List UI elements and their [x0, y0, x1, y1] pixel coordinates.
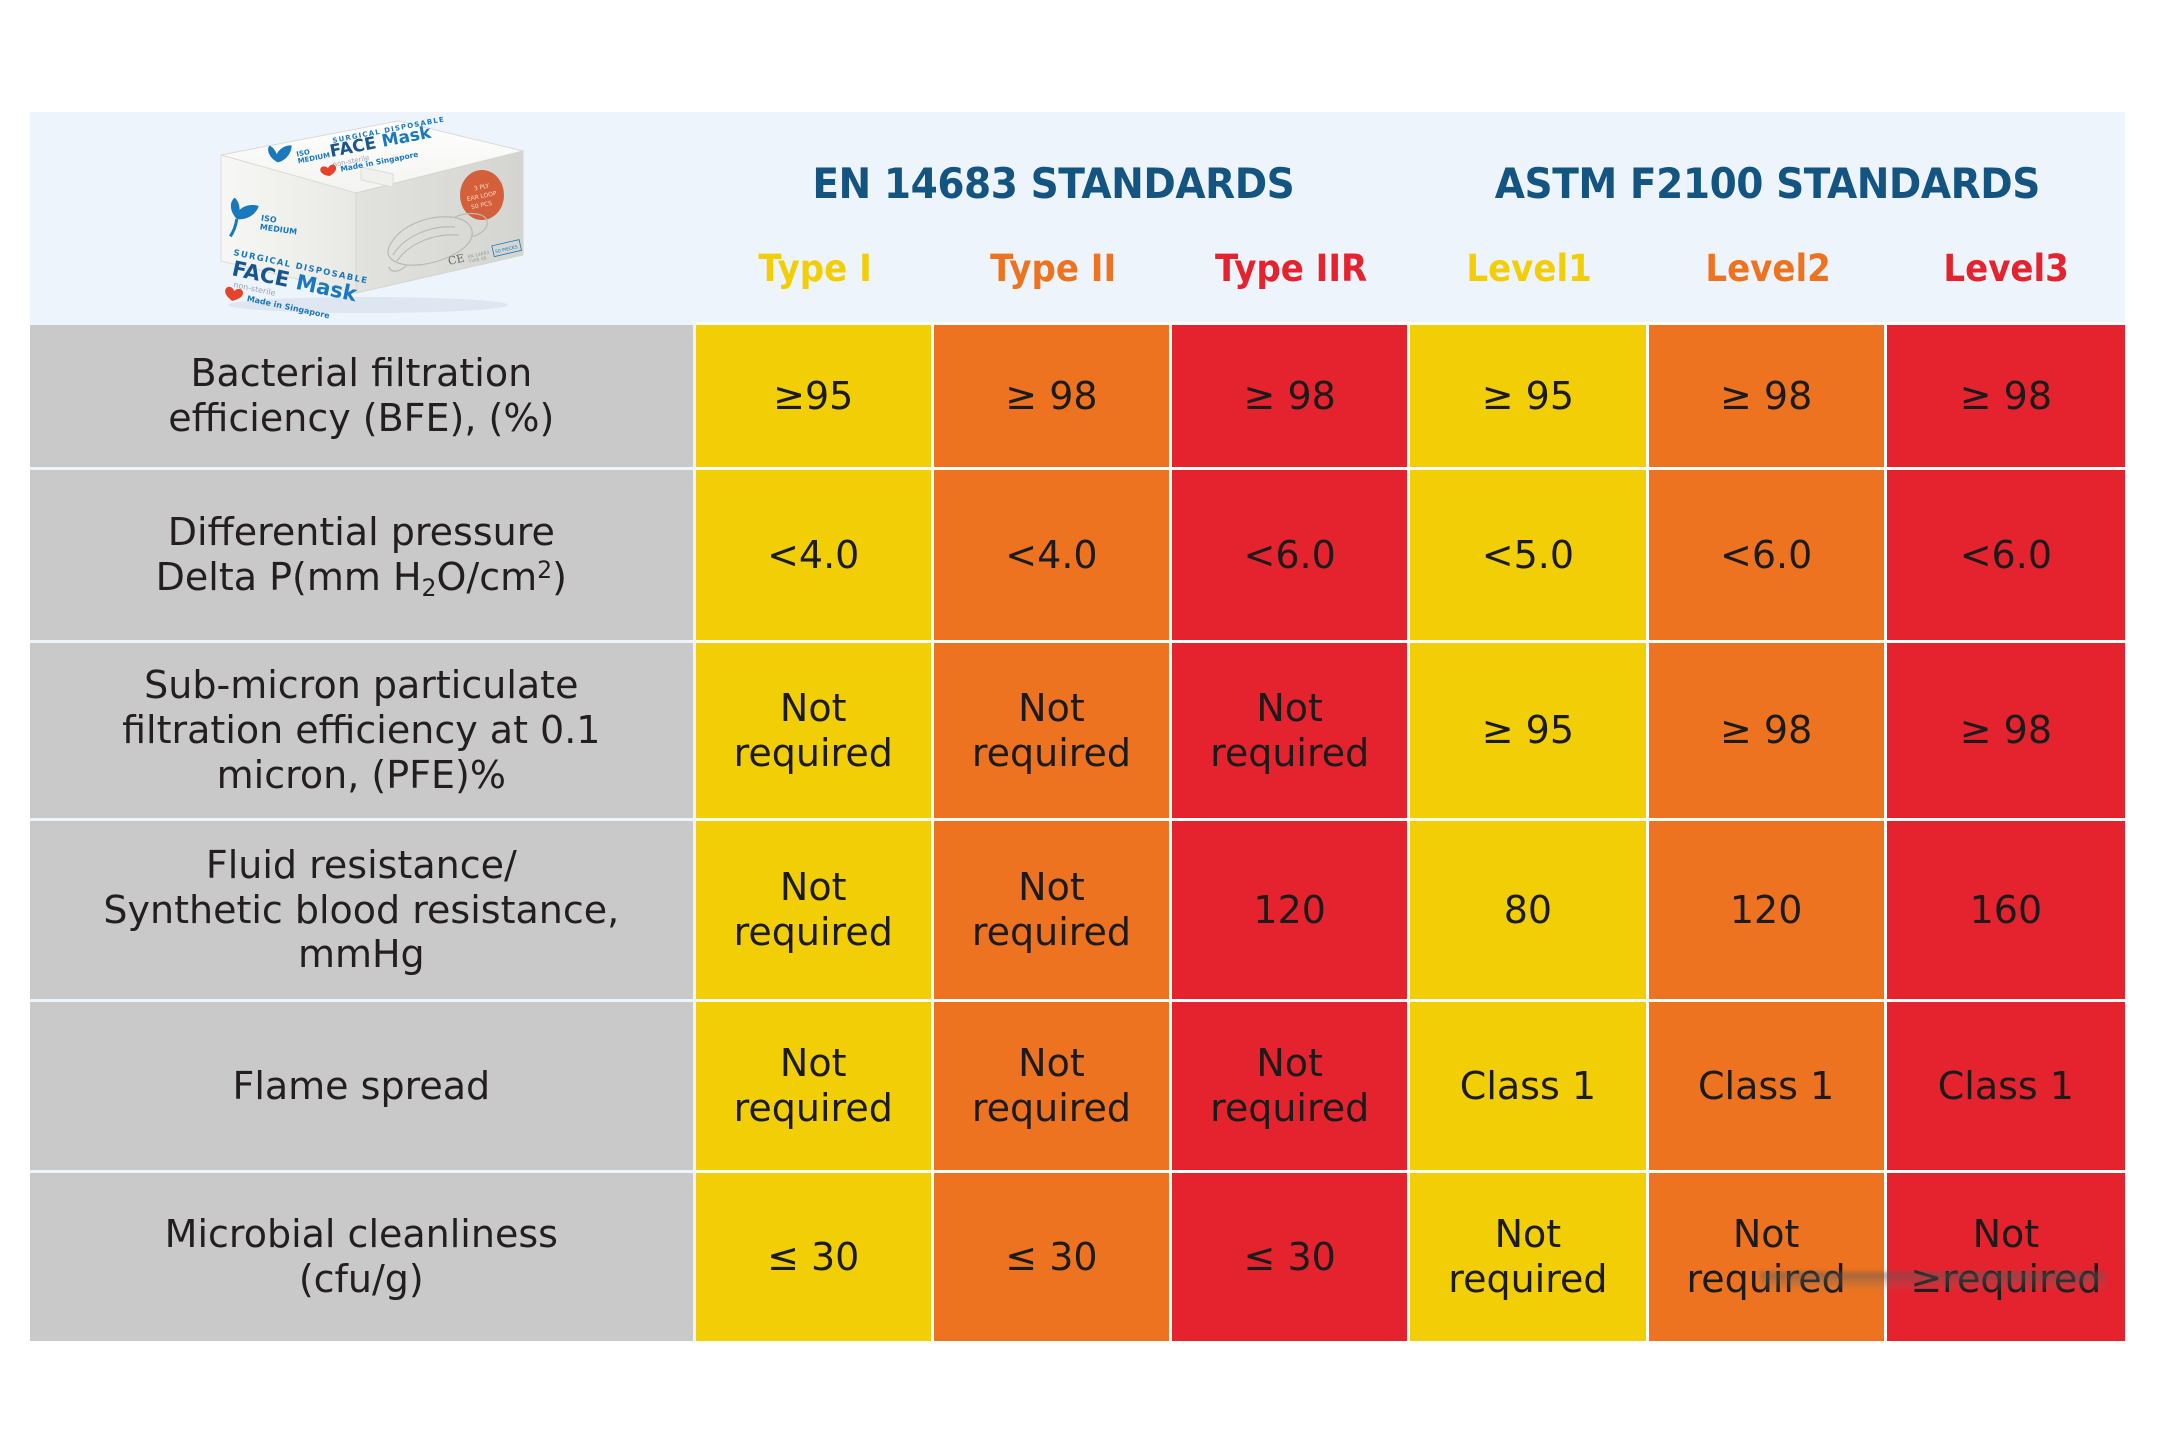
table-row: Fluid resistance/ Synthetic blood resist… [30, 818, 2125, 999]
cell-flame-type-ii-line2: required [972, 1086, 1131, 1130]
cell-fluid-level3: 160 [1887, 818, 2125, 999]
cell-pfe-type-ii-line2: required [972, 731, 1131, 775]
cell-microbial-type-i: ≤ 30 [696, 1170, 934, 1341]
group-header-astm: ASTM F2100 STANDARDS [1410, 112, 2125, 214]
row-label-fluid-resistance: Fluid resistance/ Synthetic blood resist… [30, 818, 696, 999]
cell-microbial-level3-line1: Not [1973, 1212, 2040, 1256]
cell-bfe-level1: ≥ 95 [1410, 322, 1648, 467]
cell-microbial-level2-line1: Not [1733, 1212, 1800, 1256]
row-label-fluid-line1: Fluid resistance/ [206, 843, 517, 887]
cell-pfe-type-i-line2: required [734, 731, 893, 775]
mask-box-illustration: ISO MEDIUM SURGICAL DISPOSABLE FACE Mask… [193, 115, 533, 320]
column-header-level1: Level1 [1410, 214, 1648, 322]
row-label-fluid-line2: Synthetic blood resistance, [103, 888, 619, 932]
row-label-delta-p-line2: Delta P(mm H2O/cm2) [156, 555, 567, 599]
table-row: Sub-micron particulate filtration effici… [30, 640, 2125, 818]
cell-bfe-type-i: ≥95 [696, 322, 934, 467]
cell-bfe-level2: ≥ 98 [1649, 322, 1887, 467]
cell-pfe-level1: ≥ 95 [1410, 640, 1648, 818]
cell-pfe-level2: ≥ 98 [1649, 640, 1887, 818]
row-label-pfe: Sub-micron particulate filtration effici… [30, 640, 696, 818]
column-header-level3: Level3 [1887, 214, 2125, 322]
row-label-fluid-line3: mmHg [298, 932, 425, 976]
row-label-microbial-line2: (cfu/g) [299, 1257, 424, 1301]
column-header-type-i-label: Type I [705, 247, 924, 290]
cell-deltap-type-i: <4.0 [696, 467, 934, 640]
cell-microbial-level1-line2: required [1448, 1257, 1607, 1301]
cell-fluid-type-i-line1: Not [780, 865, 847, 909]
cell-pfe-type-iir-line1: Not [1256, 686, 1323, 730]
cell-flame-level1: Class 1 [1410, 999, 1648, 1170]
cell-pfe-type-ii-line1: Not [1018, 686, 1085, 730]
table-row: Microbial cleanliness (cfu/g) ≤ 30 ≤ 30 … [30, 1170, 2125, 1341]
column-header-type-iir: Type IIR [1172, 214, 1410, 322]
cell-flame-level3: Class 1 [1887, 999, 2125, 1170]
cell-pfe-type-iir: Not required [1172, 640, 1410, 818]
cell-microbial-type-iir: ≤ 30 [1172, 1170, 1410, 1341]
column-header-level1-label: Level1 [1420, 247, 1639, 290]
group-header-en-label: EN 14683 STANDARDS [721, 159, 1386, 208]
group-header-row: ISO MEDIUM SURGICAL DISPOSABLE FACE Mask… [30, 112, 2125, 214]
cell-microbial-level1: Not required [1410, 1170, 1648, 1341]
cell-fluid-type-i: Not required [696, 818, 934, 999]
row-label-bfe-line2: efficiency (BFE), (%) [168, 396, 554, 440]
cell-flame-type-ii-line1: Not [1018, 1041, 1085, 1085]
row-label-pfe-line3: micron, (PFE)% [217, 753, 506, 797]
cell-fluid-type-iir: 120 [1172, 818, 1410, 999]
cell-deltap-level3: <6.0 [1887, 467, 2125, 640]
cell-microbial-level1-line1: Not [1495, 1212, 1562, 1256]
delta-p-pre: Delta P(mm H [156, 555, 422, 599]
table-row: Flame spread Not required Not required N… [30, 999, 2125, 1170]
cell-fluid-type-i-line2: required [734, 910, 893, 954]
table-body: Bacterial filtration efficiency (BFE), (… [30, 322, 2125, 1341]
cell-flame-type-iir-line1: Not [1256, 1041, 1323, 1085]
cell-microbial-type-ii: ≤ 30 [934, 1170, 1172, 1341]
cell-fluid-level2: 120 [1649, 818, 1887, 999]
delta-p-post: ) [552, 555, 567, 599]
row-label-pfe-line2: filtration efficiency at 0.1 [122, 708, 600, 752]
row-label-microbial-cleanliness: Microbial cleanliness (cfu/g) [30, 1170, 696, 1341]
delta-p-sup: 2 [537, 556, 552, 584]
cell-bfe-type-ii: ≥ 98 [934, 322, 1172, 467]
cell-deltap-level1: <5.0 [1410, 467, 1648, 640]
cell-fluid-level1: 80 [1410, 818, 1648, 999]
group-header-en: EN 14683 STANDARDS [696, 112, 1411, 214]
cell-pfe-type-iir-line2: required [1210, 731, 1369, 775]
column-header-type-i: Type I [696, 214, 934, 322]
table-row: Differential pressure Delta P(mm H2O/cm2… [30, 467, 2125, 640]
slide-canvas: ISO MEDIUM SURGICAL DISPOSABLE FACE Mask… [0, 0, 2160, 1440]
cell-flame-type-ii: Not required [934, 999, 1172, 1170]
cell-deltap-type-ii: <4.0 [934, 467, 1172, 640]
cell-flame-type-i-line2: required [734, 1086, 893, 1130]
cell-flame-type-i-line1: Not [780, 1041, 847, 1085]
product-image-cell: ISO MEDIUM SURGICAL DISPOSABLE FACE Mask… [30, 112, 696, 322]
cell-pfe-type-i: Not required [696, 640, 934, 818]
standards-comparison-table: ISO MEDIUM SURGICAL DISPOSABLE FACE Mask… [30, 112, 2125, 1341]
column-header-type-ii: Type II [934, 214, 1172, 322]
cell-flame-type-i: Not required [696, 999, 934, 1170]
cell-flame-level2: Class 1 [1649, 999, 1887, 1170]
row-label-pfe-line1: Sub-micron particulate [144, 663, 578, 707]
cell-fluid-type-ii-line2: required [972, 910, 1131, 954]
table-row: Bacterial filtration efficiency (BFE), (… [30, 322, 2125, 467]
group-header-astm-label: ASTM F2100 STANDARDS [1435, 159, 2100, 208]
cell-pfe-level3: ≥ 98 [1887, 640, 2125, 818]
column-header-level2: Level2 [1649, 214, 1887, 322]
row-label-delta-p-line1: Differential pressure [168, 510, 555, 554]
cell-bfe-level3: ≥ 98 [1887, 322, 2125, 467]
cell-deltap-type-iir: <6.0 [1172, 467, 1410, 640]
row-label-delta-p: Differential pressure Delta P(mm H2O/cm2… [30, 467, 696, 640]
column-header-type-iir-label: Type IIR [1182, 247, 1401, 290]
row-label-flame-spread: Flame spread [30, 999, 696, 1170]
cell-fluid-type-ii-line1: Not [1018, 865, 1085, 909]
row-label-bfe: Bacterial filtration efficiency (BFE), (… [30, 322, 696, 467]
cell-fluid-type-ii: Not required [934, 818, 1172, 999]
table-header: ISO MEDIUM SURGICAL DISPOSABLE FACE Mask… [30, 112, 2125, 322]
face-mask-box-image: ISO MEDIUM SURGICAL DISPOSABLE FACE Mask… [30, 112, 696, 322]
delta-p-sub: 2 [422, 574, 437, 602]
cell-flame-type-iir: Not required [1172, 999, 1410, 1170]
cell-microbial-level3: Not ≥required [1887, 1170, 2125, 1341]
cell-microbial-level2: Not required [1649, 1170, 1887, 1341]
cell-deltap-level2: <6.0 [1649, 467, 1887, 640]
cell-flame-type-iir-line2: required [1210, 1086, 1369, 1130]
table-edge-shadow [1760, 1272, 2105, 1290]
cell-pfe-type-i-line1: Not [780, 686, 847, 730]
row-label-bfe-line1: Bacterial filtration [190, 351, 532, 395]
column-header-type-ii-label: Type II [943, 247, 1162, 290]
column-header-level2-label: Level2 [1658, 247, 1877, 290]
cell-bfe-type-iir: ≥ 98 [1172, 322, 1410, 467]
cell-pfe-type-ii: Not required [934, 640, 1172, 818]
delta-p-mid: O/cm [437, 555, 538, 599]
column-header-level3-label: Level3 [1896, 247, 2115, 290]
row-label-microbial-line1: Microbial cleanliness [165, 1212, 558, 1256]
